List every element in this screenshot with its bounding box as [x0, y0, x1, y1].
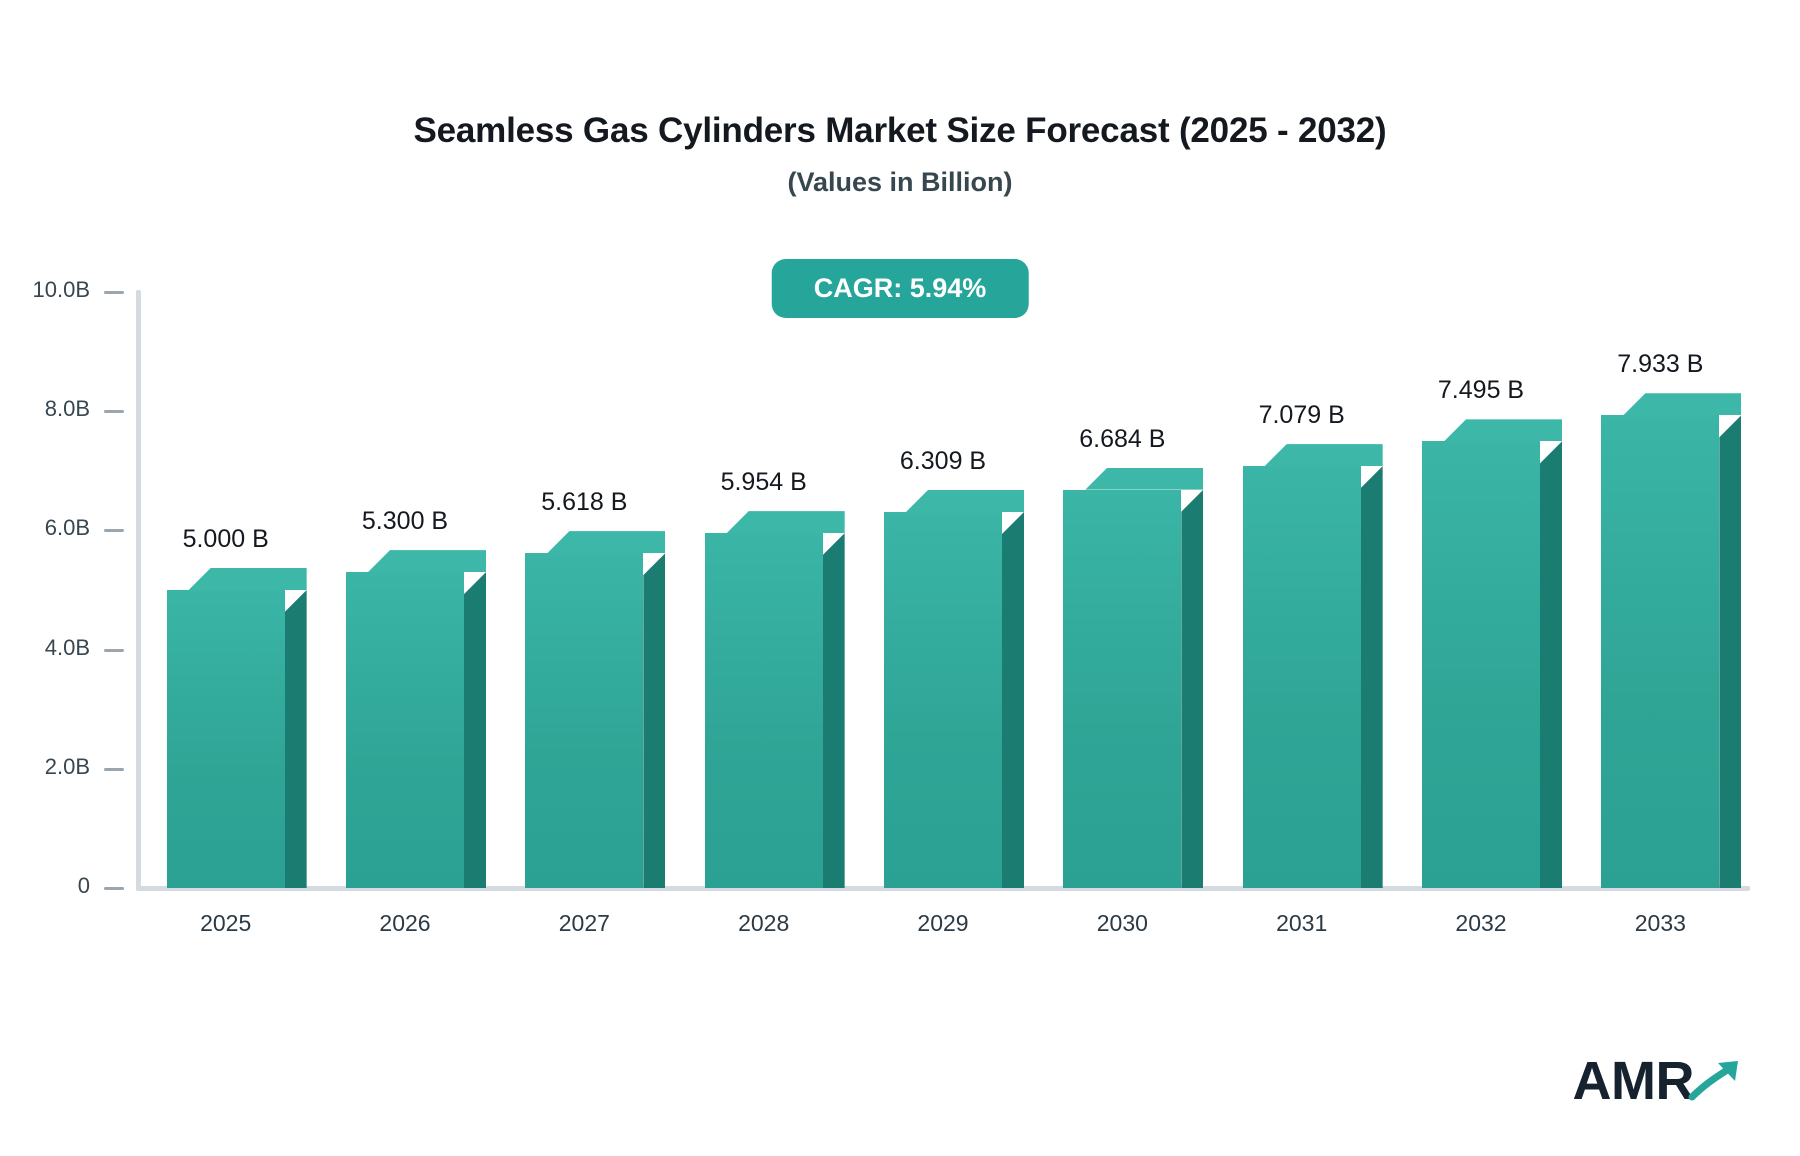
bar-front-face [1422, 441, 1540, 888]
bar-value-label: 7.079 B [1259, 401, 1345, 430]
bar-side-face [1540, 441, 1562, 888]
bar-side-face [1361, 466, 1383, 888]
bar-side-face [464, 572, 486, 888]
bar-front-face [705, 533, 823, 888]
y-axis-tick-label: 2.0B [45, 754, 90, 780]
y-axis-tick-mark [104, 649, 124, 652]
x-axis-category-label: 2026 [379, 910, 430, 937]
bar-value-label: 7.495 B [1438, 376, 1524, 405]
bar-column[interactable]: 5.618 B2027 [525, 531, 643, 888]
bar-column[interactable]: 6.309 B2029 [884, 490, 1002, 888]
bar-value-label: 5.618 B [541, 488, 627, 517]
bar-column[interactable]: 5.000 B2025 [167, 568, 285, 888]
bar-top-face [189, 568, 307, 590]
x-axis-category-label: 2025 [200, 910, 251, 937]
x-axis-category-label: 2032 [1455, 910, 1506, 937]
bar-top-face [1623, 393, 1741, 415]
bar-side-face [643, 553, 665, 888]
y-axis-tick-mark [104, 410, 124, 413]
bar-front-face [167, 590, 285, 888]
y-axis-line [136, 290, 141, 890]
bar-column[interactable]: 7.495 B2032 [1422, 419, 1540, 888]
amr-logo: AMR [1573, 1054, 1744, 1108]
bar-top-face [1444, 419, 1562, 441]
plot-area: 10.0B8.0B6.0B4.0B2.0B0 5.000 B20255.300 … [0, 0, 1800, 1156]
x-axis-category-label: 2030 [1097, 910, 1148, 937]
bar-side-face [823, 533, 845, 888]
x-axis-category-label: 2033 [1635, 910, 1686, 937]
bar-column[interactable]: 5.300 B2026 [346, 550, 464, 888]
bar-top-face [906, 490, 1024, 512]
bar-column[interactable]: 5.954 B2028 [705, 511, 823, 888]
y-axis-tick-mark [104, 768, 124, 771]
bar-side-face [1719, 415, 1741, 888]
bar-value-label: 7.933 B [1617, 350, 1703, 379]
bar-top-face [368, 550, 486, 572]
bar-side-face [1181, 490, 1203, 888]
y-axis-tick-label: 8.0B [45, 396, 90, 422]
bar-side-face [285, 590, 307, 888]
arrow-up-right-icon [1688, 1055, 1744, 1106]
y-axis-tick-label: 4.0B [45, 635, 90, 661]
y-axis-tick-mark [104, 291, 124, 294]
y-axis-tick-mark [104, 529, 124, 532]
bar-front-face [884, 512, 1002, 888]
bar-value-label: 6.309 B [900, 447, 986, 476]
bar-top-face [1265, 444, 1383, 466]
x-axis-category-label: 2031 [1276, 910, 1327, 937]
bar-front-face [1063, 490, 1181, 888]
x-axis-category-label: 2027 [559, 910, 610, 937]
y-axis-tick-label: 0 [78, 873, 90, 899]
y-axis-tick-label: 6.0B [45, 515, 90, 541]
amr-logo-text: AMR [1573, 1054, 1694, 1108]
bar-column[interactable]: 7.079 B2031 [1243, 444, 1361, 888]
bar-value-label: 6.684 B [1079, 425, 1165, 454]
bar-front-face [525, 553, 643, 888]
bar-top-face [1085, 468, 1203, 490]
bar-value-label: 5.000 B [183, 525, 269, 554]
y-axis-tick-label: 10.0B [33, 277, 91, 303]
bar-column[interactable]: 6.684 B2030 [1063, 468, 1181, 888]
y-axis-tick-mark [104, 887, 124, 890]
bar-side-face [1002, 512, 1024, 888]
bar-column[interactable]: 7.933 B2033 [1601, 393, 1719, 888]
x-axis-category-label: 2028 [738, 910, 789, 937]
bar-front-face [1601, 415, 1719, 888]
x-axis-category-label: 2029 [917, 910, 968, 937]
bar-value-label: 5.954 B [721, 468, 807, 497]
bar-top-face [547, 531, 665, 553]
bar-top-face [727, 511, 845, 533]
bar-value-label: 5.300 B [362, 507, 448, 536]
bar-front-face [346, 572, 464, 888]
bar-front-face [1243, 466, 1361, 888]
